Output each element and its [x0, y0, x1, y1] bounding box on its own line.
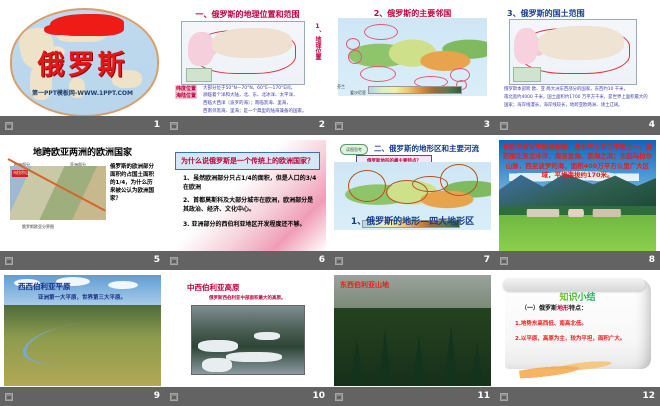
slide-thumbnail-12[interactable]: 知识小结 （一）俄罗斯地形特点： 1.地势东高西低、南高北低。 2.以平原、高原…	[495, 270, 660, 406]
slide-thumb-icon	[170, 393, 178, 401]
summary-heading-accent: 地形	[557, 305, 569, 312]
slide-thumbnail-11[interactable]: 东西伯利亚山地 11	[330, 270, 495, 406]
slide-title: 地跨欧亚两洲的欧洲国家	[4, 145, 161, 158]
slide-title: 知识小结	[499, 290, 656, 303]
slide-thumbnail-7[interactable]: 读图思考 二、俄罗斯的地形区和主要河流 俄罗斯地形的最主要特点？ 1、俄罗斯的地…	[330, 135, 495, 270]
question-banner: 为什么说俄罗斯是一个传统上的欧洲国家？	[175, 152, 320, 170]
slide-thumbnail-6[interactable]: 为什么说俄罗斯是一个传统上的欧洲国家？ 1、虽然欧洲部分只占1/4的面积，但是人…	[165, 135, 330, 270]
slide-number: 12	[642, 392, 655, 401]
russia-territory-map	[509, 19, 637, 85]
russia-relief-map	[338, 18, 487, 96]
slide-subtitle: 1、俄罗斯的地形—四大地形区	[334, 214, 491, 227]
slide-thumb-icon	[335, 257, 343, 265]
slide-thumb-icon	[170, 122, 178, 130]
slide-number: 7	[484, 256, 490, 265]
slide-number: 2	[319, 121, 325, 130]
field-graphic	[499, 215, 656, 251]
fill-line-3: 国家；海岸线漫长，海岸线较长，地跨亚欧两洲、领土辽阔。	[504, 103, 652, 110]
summary-item-1: 1.地势东高西低、南高北低。	[515, 319, 587, 327]
slide-canvas-11: 东西伯利亚山地	[334, 275, 491, 386]
slide-footer-7: 7	[330, 251, 495, 270]
slide-canvas-9: 西西伯利亚平原 亚洲第一大平原，世界第三大平原。	[4, 275, 161, 386]
slide-number: 10	[312, 392, 325, 401]
slide-canvas-3: 2、俄罗斯的主要邻国 芬兰 爱沙尼亚	[334, 5, 491, 116]
slide-thumb-icon	[335, 122, 343, 130]
slide-thumb-icon	[500, 257, 508, 265]
slide-footer-6: 6	[165, 251, 330, 270]
fill-line-3: 西临大西洋（波罗的海）；南临黑海、里海，	[203, 100, 322, 106]
slide-title: 3、俄罗斯的国土范围	[507, 8, 585, 19]
slide-title: 俄罗斯	[4, 43, 161, 82]
slide-canvas-5: 地跨欧亚两洲的欧洲国家 欧洲部分 亚洲部分 乌拉尔山 俄罗斯的欧洲部分面积约占国…	[4, 140, 161, 251]
fill-line-2: 濒临着个洋和大陆，北、东、北冰洋、太平洋，	[203, 92, 322, 98]
slide-footer-9: 9	[0, 387, 165, 406]
slide-thumbnail-grid: 俄罗斯 第一PPT模板网-WWW.1PPT.COM 1 一、俄罗斯的地理位置和范…	[0, 0, 660, 406]
europe-asia-map: 乌拉尔山	[10, 166, 106, 220]
slide-thumbnail-4[interactable]: 3、俄罗斯的国土范围 俄罗斯本部跨 欧、亚 两大洲东西部分的国家，东西约10 千…	[495, 0, 660, 135]
slide-thumb-icon	[5, 393, 13, 401]
slide-number: 8	[649, 256, 655, 265]
slide-footer-11: 11	[330, 387, 495, 406]
slide-number: 1	[154, 121, 160, 130]
slide-title: 中西伯利亚高原	[187, 282, 240, 293]
russia-outline-map	[181, 21, 305, 85]
slide-footer-3: 3	[330, 116, 495, 135]
slide-footer-1: 1	[0, 116, 165, 135]
slide-thumb-icon	[500, 122, 508, 130]
slide-thumb-icon	[170, 257, 178, 265]
slide-canvas-1: 俄罗斯 第一PPT模板网-WWW.1PPT.COM	[4, 5, 161, 116]
slide-title: 二、俄罗斯的地形区和主要河流	[374, 143, 479, 154]
slide-title: 东西伯利亚山地	[340, 280, 389, 290]
slide-number: 6	[319, 256, 325, 265]
slide-thumb-icon	[500, 393, 508, 401]
slide-canvas-8: 东欧平原位于欧洲东部，是世界上第二平原之一。其范围北至北冰洋，南至里海、黑海之滨…	[499, 140, 656, 251]
slide-canvas-7: 读图思考 二、俄罗斯的地形区和主要河流 俄罗斯地形的最主要特点？ 1、俄罗斯的地…	[334, 140, 491, 251]
slide-body-text: 东欧平原位于欧洲东部，是世界上第二平原之一。其范围北至北冰洋，南至里海、黑海之滨…	[502, 143, 653, 181]
slide-footer-12: 12	[495, 387, 660, 406]
plateau-photo	[191, 305, 305, 375]
slide-thumb-icon	[5, 122, 13, 130]
village-graphic	[521, 209, 631, 217]
fill-line-1: 大部分位于50°N—70°N，60°E—170°E间，	[203, 85, 322, 91]
summary-item-2: 2.以平原、高原为主，较为平坦，面积广大。	[515, 335, 642, 343]
bullet-item-3: 3. 亚洲部分的西伯利亚地区开发程度还不够。	[183, 220, 318, 229]
slide-footer-10: 10	[165, 387, 330, 406]
slide-footer-5: 5	[0, 251, 165, 270]
slide-footer-2: 2	[165, 116, 330, 135]
slide-subtitle: 亚洲第一大平原，世界第三大平原。	[38, 293, 126, 301]
slide-canvas-4: 3、俄罗斯的国土范围 俄罗斯本部跨 欧、亚 两大洲东西部分的国家，东西约10 千…	[499, 5, 656, 116]
fill-line-2: 南北宽约4000 千米，国土面积约1700 万平方千米，是世界上面积最大的	[504, 95, 652, 102]
slide-footer-4: 4	[495, 116, 660, 135]
slide-thumb-icon	[335, 393, 343, 401]
slide-thumb-icon	[5, 257, 13, 265]
slide-canvas-12: 知识小结 （一）俄罗斯地形特点： 1.地势东高西低、南高北低。 2.以平原、高原…	[499, 275, 656, 386]
slide-number: 3	[484, 121, 490, 130]
slide-canvas-6: 为什么说俄罗斯是一个传统上的欧洲国家？ 1、虽然欧洲部分只占1/4的面积，但是人…	[169, 140, 326, 251]
map-label-sea-land: 海陆位置	[175, 92, 197, 99]
slide-thumbnail-5[interactable]: 地跨欧亚两洲的欧洲国家 欧洲部分 亚洲部分 乌拉尔山 俄罗斯的欧洲部分面积约占国…	[0, 135, 165, 270]
slide-thumbnail-10[interactable]: 中西伯利亚高原 俄罗斯西伯利亚中部面积最大的高原。 10	[165, 270, 330, 406]
fill-line-4: 西南邻黑海、里海；是一个典型的陆海兼备的国家。	[203, 108, 322, 114]
slide-number: 4	[649, 121, 655, 130]
summary-heading-prefix: （一）俄罗斯	[521, 305, 557, 312]
watermark-text: 第一PPT模板网-WWW.1PPT.COM	[4, 88, 161, 97]
map-label-latitude: 纬度位置	[175, 85, 197, 92]
slide-thumbnail-2[interactable]: 一、俄罗斯的地理位置和范围 1、地理位置 纬度位置 海陆位置 大部分位于50°N…	[165, 0, 330, 135]
slide-number: 5	[154, 256, 160, 265]
slide-footer-8: 8	[495, 251, 660, 270]
slide-thumbnail-8[interactable]: 东欧平原位于欧洲东部，是世界上第二平原之一。其范围北至北冰洋，南至里海、黑海之滨…	[495, 135, 660, 270]
map-caption: 俄罗斯欧亚分界图	[22, 224, 54, 230]
slide-number: 9	[154, 392, 160, 401]
summary-heading: （一）俄罗斯地形特点：	[521, 303, 587, 312]
cloud-graphic	[108, 281, 138, 289]
map-caption-2: 爱沙尼亚	[350, 91, 366, 96]
slide-canvas-2: 一、俄罗斯的地理位置和范围 1、地理位置 纬度位置 海陆位置 大部分位于50°N…	[169, 5, 326, 116]
map-caption-1: 芬兰	[337, 85, 345, 90]
slide-subtitle: 俄罗斯西伯利亚中部面积最大的高原。	[209, 295, 286, 301]
slide-title: 一、俄罗斯的地理位置和范围	[169, 9, 326, 20]
summary-heading-suffix: 特点：	[569, 305, 587, 312]
slide-thumbnail-1[interactable]: 俄罗斯 第一PPT模板网-WWW.1PPT.COM 1	[0, 0, 165, 135]
slide-title: 西西伯利亚平原	[18, 281, 71, 292]
slide-body-text: 俄罗斯的欧洲部分面积约占国土面积的1/4，为什么历来被公认为欧洲国家？	[110, 164, 155, 204]
bullet-item-1: 1、虽然欧洲部分只占1/4的面积，但是人口的3/4在欧洲	[183, 174, 318, 192]
slide-title: 为什么说俄罗斯是一个传统上的欧洲国家？	[181, 156, 314, 166]
fill-line-1: 俄罗斯本部跨 欧、亚 两大洲东西部分的国家，东西约10 千米，	[504, 87, 652, 94]
bullet-item-2: 2、首都莫斯科及大部分城市在欧洲，欧洲部分是其政治、经济、文化中心。	[183, 196, 318, 214]
slide-canvas-10: 中西伯利亚高原 俄罗斯西伯利亚中部面积最大的高原。	[169, 275, 326, 386]
read-map-pill: 读图思考	[340, 144, 368, 155]
slide-thumbnail-3[interactable]: 2、俄罗斯的主要邻国 芬兰 爱沙尼亚 3	[330, 0, 495, 135]
slide-thumbnail-9[interactable]: 西西伯利亚平原 亚洲第一大平原，世界第三大平原。 9	[0, 270, 165, 406]
vertical-title: 1、地理位置	[311, 23, 320, 60]
slide-number: 11	[477, 392, 490, 401]
